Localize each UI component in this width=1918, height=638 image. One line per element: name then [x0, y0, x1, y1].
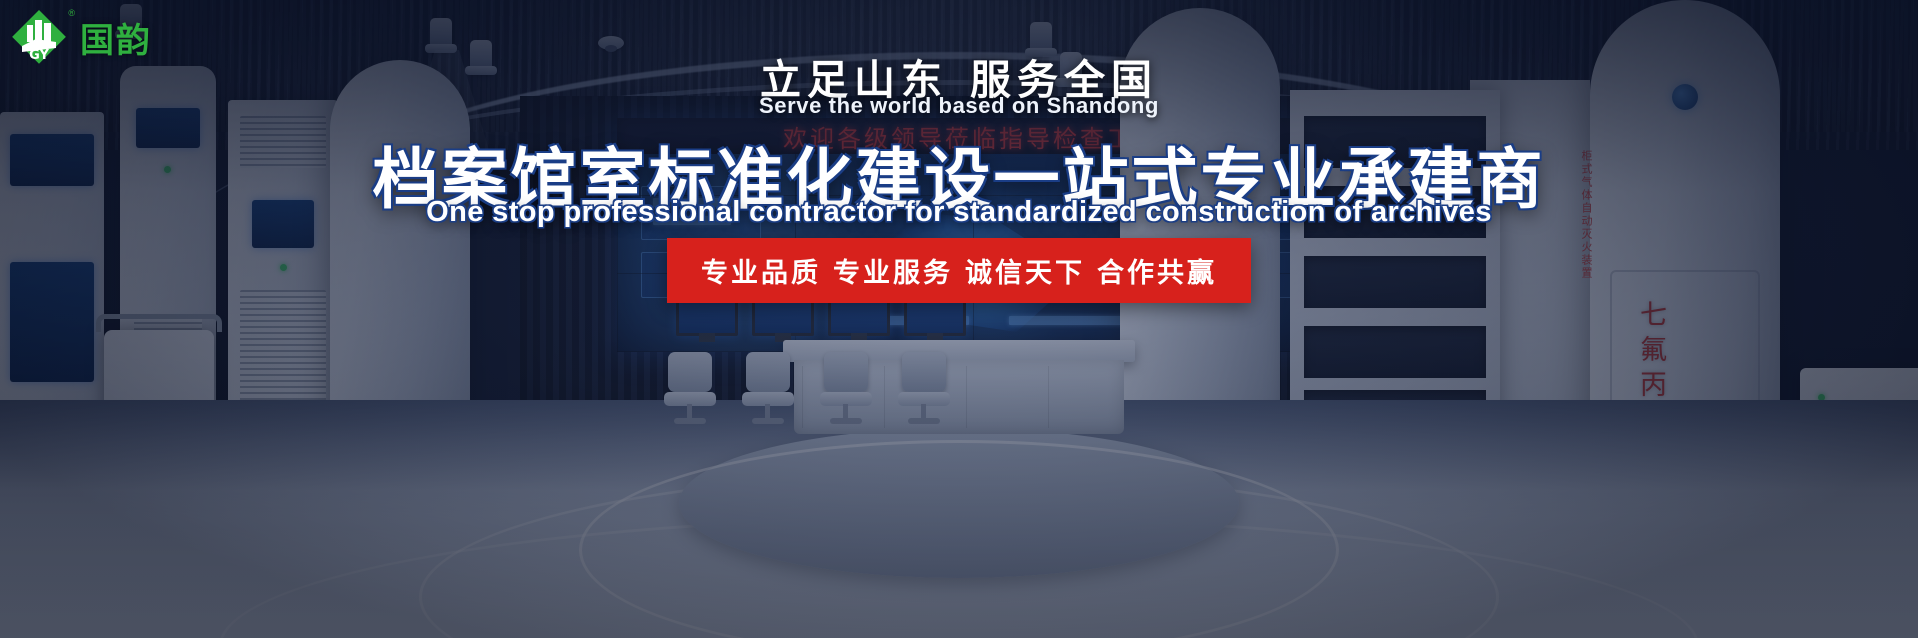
hero-cta-button[interactable]: 专业品质专业服务诚信天下合作共赢 [667, 238, 1251, 303]
registered-trademark-icon: ® [68, 8, 75, 18]
hero-content: 立足山东服务全国 Serve the world based on Shando… [0, 0, 1918, 638]
hero-cta-wrapper: 专业品质专业服务诚信天下合作共赢 [0, 238, 1918, 303]
hero-tagline-en: Serve the world based on Shandong [0, 93, 1918, 119]
gy-building-diamond-logo-icon: GY ® [10, 8, 68, 66]
cta-text-part4: 合作共赢 [1097, 258, 1217, 289]
cta-text-part1: 专业品质 [701, 258, 821, 289]
svg-text:GY: GY [29, 48, 49, 63]
cta-text-part3: 诚信天下 [965, 258, 1085, 289]
brand-logo[interactable]: GY ® 国韵 [10, 8, 152, 66]
cta-text-part2: 专业服务 [833, 258, 953, 289]
hero-headline-en: One stop professional contractor for sta… [0, 196, 1918, 229]
hero-banner: 欢迎各级领导莅临指导检查工作 [0, 0, 1918, 638]
brand-name: 国韵 [80, 13, 152, 62]
